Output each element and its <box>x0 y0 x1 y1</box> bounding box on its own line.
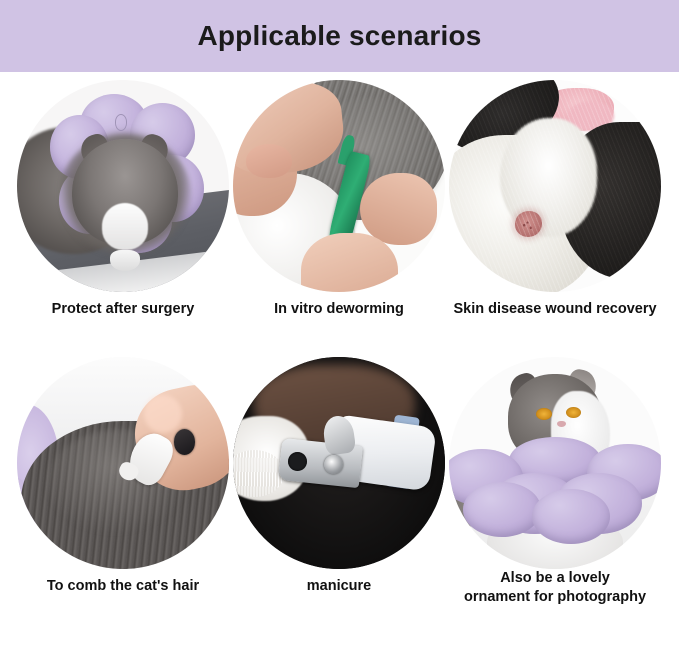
scenario-caption: manicure <box>226 577 452 596</box>
cat-paw-shape <box>110 250 140 271</box>
scenario-row-1: Protect after surgery <box>0 80 679 358</box>
photo-hands-applying-green-spot-on-pipette-to-pet-fur <box>233 80 445 292</box>
photo-pet-nail-clippers-trimming-white-paw <box>233 357 445 569</box>
scenario-cell-protect-after-surgery: Protect after surgery <box>10 80 236 358</box>
scenario-cell-skin-disease-wound-recovery: Skin disease wound recovery <box>442 80 668 358</box>
scenario-caption: Protect after surgery <box>10 300 236 319</box>
collar-petal <box>463 482 541 537</box>
scenario-caption-line: ornament for photography <box>442 588 668 607</box>
finger-right-shape <box>360 173 436 245</box>
fur-texture-overlay <box>449 80 661 292</box>
scenario-caption: In vitro deworming <box>226 300 452 319</box>
thumbnail-shape <box>246 144 293 178</box>
collar-valve-icon <box>115 114 128 131</box>
scene-manicure <box>233 357 445 569</box>
scenario-caption: Also be a lovely ornament for photograph… <box>442 569 668 607</box>
lavender-flower-collar <box>449 442 661 561</box>
scenario-cell-manicure: manicure <box>226 357 452 635</box>
header-band: Applicable scenarios <box>0 0 679 72</box>
scenario-caption-line: Also be a lovely <box>442 569 668 588</box>
scenario-caption: To comb the cat's hair <box>10 577 236 596</box>
scenario-cell-comb-the-cats-hair: To comb the cat's hair <box>10 357 236 635</box>
scene-photography <box>449 357 661 569</box>
scenario-caption: Skin disease wound recovery <box>442 300 668 319</box>
photo-fluffy-cat-wearing-lavender-flower-collar <box>449 357 661 569</box>
collar-petal <box>532 489 610 544</box>
cat-white-chest <box>102 203 149 250</box>
photo-cat-wearing-purple-recovery-collar-on-gray-mat <box>17 80 229 292</box>
scenario-cell-in-vitro-deworming: In vitro deworming <box>226 80 452 358</box>
scene-skin-wound <box>449 80 661 292</box>
photo-hand-combing-gray-cat-fur-with-purple-collar <box>17 357 229 569</box>
scenario-grid: Protect after surgery <box>0 72 679 645</box>
clipper-pivot-screw <box>324 455 343 474</box>
photo-black-and-white-dog-skin-lesion-closeup <box>449 80 661 292</box>
finger-lower-shape <box>301 233 399 292</box>
cat-eye-left <box>536 408 552 420</box>
finger-ring <box>174 429 195 454</box>
cat-nose <box>557 421 565 427</box>
scene-surgery-recovery <box>17 80 229 292</box>
product-infographic-page: Applicable scenarios <box>0 0 679 645</box>
page-title: Applicable scenarios <box>197 22 481 50</box>
scenario-cell-photography-ornament: Also be a lovely ornament for photograph… <box>442 357 668 635</box>
scene-deworming <box>233 80 445 292</box>
scene-combing <box>17 357 229 569</box>
scenario-row-2: To comb the cat's hair <box>0 357 679 635</box>
